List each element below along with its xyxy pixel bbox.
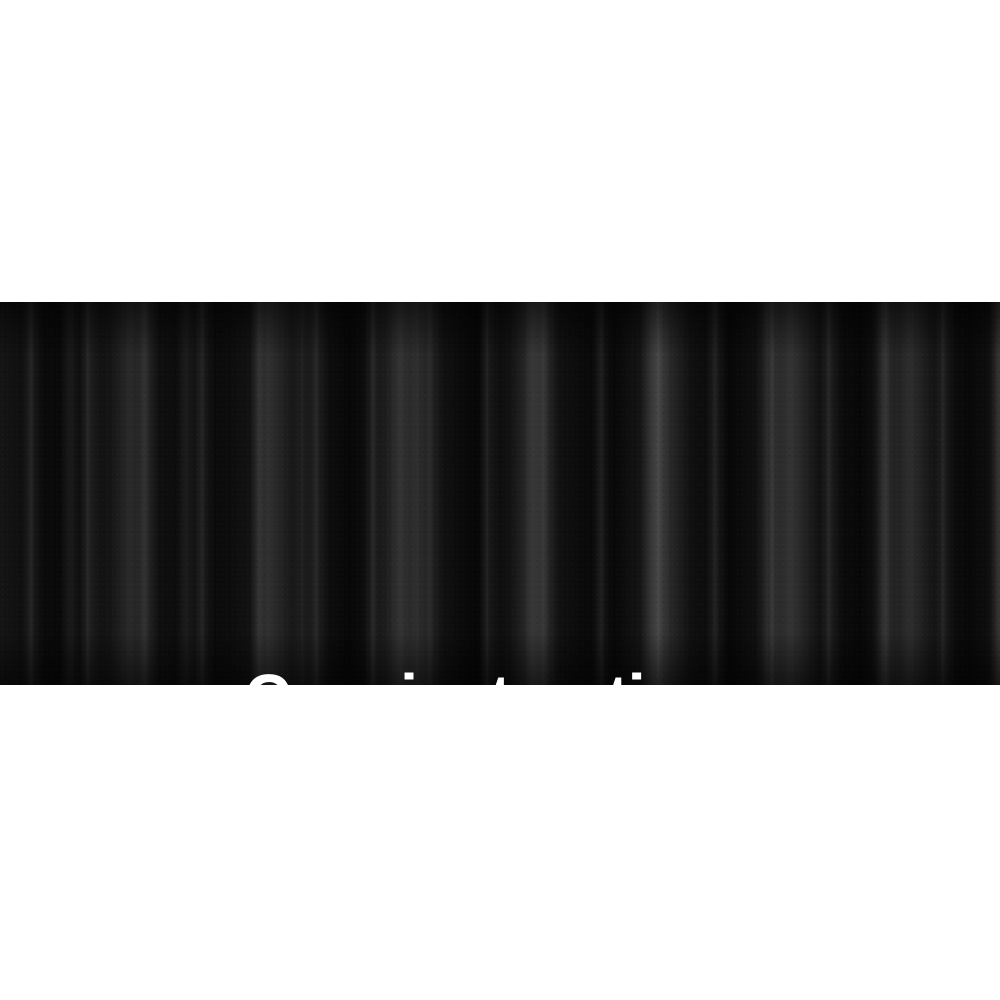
banner-content: Care instructions Machine washable cold [0,302,1000,685]
page-title: Care instructions [35,664,965,685]
care-instructions-page: Care instructions Machine washable cold [0,0,1000,1000]
care-instructions-banner: Care instructions Machine washable cold [0,302,1000,685]
